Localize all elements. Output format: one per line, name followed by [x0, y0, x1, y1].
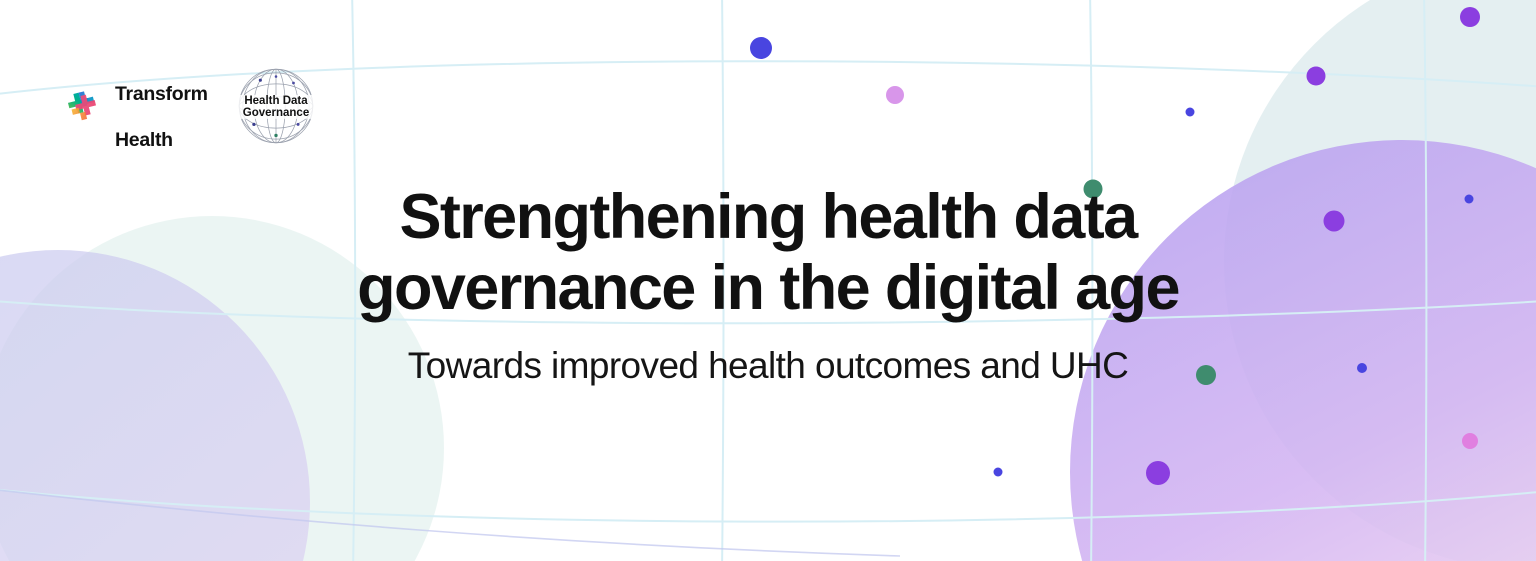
- dot-small-blue-4: [994, 468, 1003, 477]
- transform-health-logo[interactable]: Transform Health: [60, 60, 208, 152]
- logo-bar: Transform Health: [60, 60, 322, 152]
- transform-health-mark-icon: [60, 84, 104, 128]
- transform-health-wordmark-line2: Health: [115, 129, 173, 151]
- transform-health-wordmark: Transform Health: [115, 60, 208, 152]
- dot-purple-corner: [1460, 7, 1480, 27]
- dot-purple-tr: [1307, 67, 1326, 86]
- dot-small-blue-1: [1186, 108, 1195, 117]
- hdg-label-line1: Health Data: [244, 95, 308, 107]
- dot-orchid-right: [1462, 433, 1478, 449]
- hero-banner: Transform Health: [0, 0, 1536, 561]
- dot-blue-top: [750, 37, 772, 59]
- headline-block: Strengthening health data governance in …: [0, 182, 1536, 389]
- health-data-governance-logo[interactable]: Health Data Governance: [230, 60, 322, 152]
- page-title: Strengthening health data governance in …: [353, 182, 1183, 323]
- hdg-label-line2: Governance: [242, 107, 308, 119]
- transform-health-wordmark-line1: Transform: [115, 83, 208, 105]
- grid-horizontal-curve-accent: [0, 488, 900, 556]
- dot-orchid-top: [886, 86, 904, 104]
- page-subtitle: Towards improved health outcomes and UHC: [0, 343, 1536, 389]
- dot-purple-low: [1146, 461, 1170, 485]
